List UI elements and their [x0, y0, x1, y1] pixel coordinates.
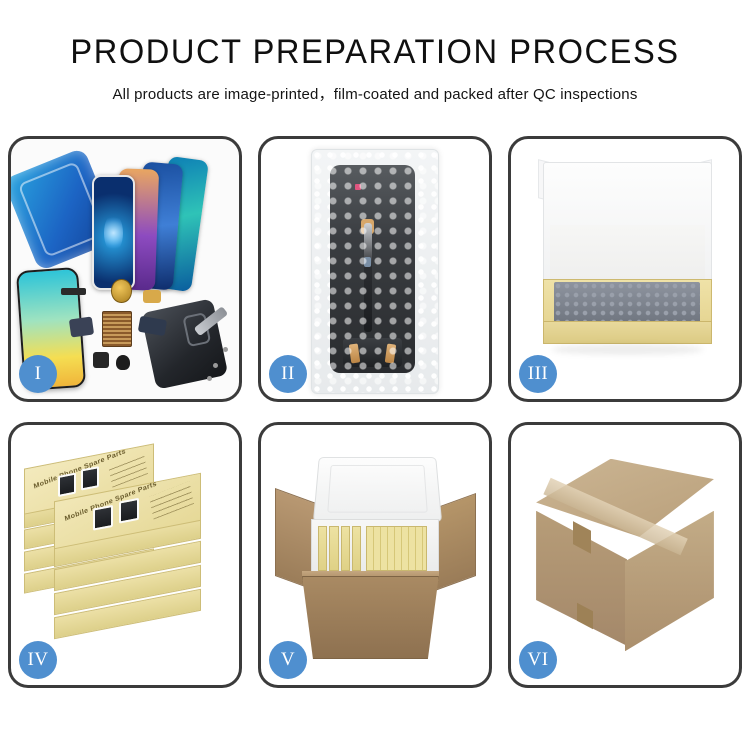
phone-display-fan: [79, 149, 234, 289]
page-subtitle: All products are image-printed，film-coat…: [0, 83, 750, 104]
box-printed-screen-1b: [82, 467, 100, 492]
flex-cable-part-3: [143, 290, 161, 303]
bubble-wrap-filling: [554, 282, 700, 324]
box-drop-shadow: [552, 344, 702, 354]
step-badge-1: I: [19, 355, 57, 393]
packed-kraft-box-2: [329, 526, 338, 570]
product-preparation-process-page: PRODUCT PREPARATION PROCESS All products…: [0, 0, 750, 750]
packed-kraft-box-4: [352, 526, 361, 570]
process-steps-grid: I II: [8, 136, 742, 688]
speaker-module-part: [93, 352, 109, 368]
pink-label-sticker: [355, 184, 361, 190]
box-stack: Mobile Phone Spare Parts Mobile Phone Sp…: [20, 443, 230, 661]
step-badge-4: IV: [19, 641, 57, 679]
process-step-card-3[interactable]: III: [508, 136, 742, 402]
packed-kraft-box-group: [366, 526, 428, 570]
lcd-screen-assembly: [330, 165, 415, 373]
yellow-box-front-edge: [543, 321, 712, 344]
chip-grid-part: [102, 311, 132, 347]
box-printed-screen-2b: [118, 498, 138, 524]
screw-part-2: [223, 347, 228, 352]
bubble-wrap-bag: [311, 149, 439, 393]
foam-case-lid: [313, 457, 442, 521]
page-title: PRODUCT PREPARATION PROCESS: [15, 34, 735, 71]
box-printed-screen-2a: [92, 504, 112, 530]
carton-front-panel: [302, 576, 439, 659]
process-step-card-5[interactable]: V: [258, 422, 492, 688]
antenna-strip-part: [61, 288, 86, 295]
screen-flex-cable: [364, 223, 372, 331]
step-badge-3: III: [519, 355, 557, 393]
process-step-card-1[interactable]: I: [8, 136, 242, 402]
packed-kraft-box-1: [318, 526, 327, 570]
step-badge-2: II: [269, 355, 307, 393]
header: PRODUCT PREPARATION PROCESS All products…: [0, 0, 750, 104]
packed-kraft-box-3: [341, 526, 350, 570]
process-step-card-6[interactable]: VI: [508, 422, 742, 688]
flex-cable-part-1: [69, 317, 94, 338]
process-step-card-4[interactable]: Mobile Phone Spare Parts Mobile Phone Sp…: [8, 422, 242, 688]
flex-cable-part-2: [138, 316, 168, 336]
screw-part-3: [207, 376, 212, 381]
phone-display-front-glass: [92, 175, 135, 290]
box-printed-screen-1a: [59, 473, 77, 498]
driver-chip: [364, 257, 371, 267]
process-step-card-2[interactable]: II: [258, 136, 492, 402]
camera-module-part: [116, 355, 130, 371]
step-badge-6: VI: [519, 641, 557, 679]
step-badge-5: V: [269, 641, 307, 679]
speaker-coil-part: [111, 279, 132, 302]
